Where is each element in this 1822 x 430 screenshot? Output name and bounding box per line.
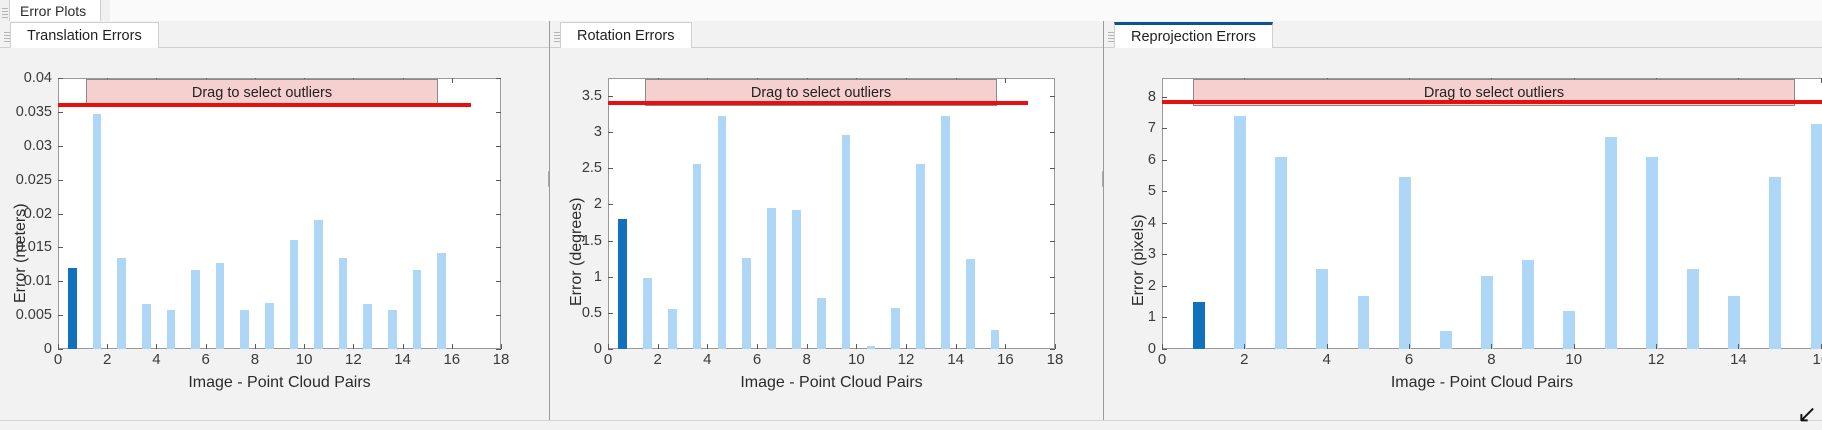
document-tabstrip: Error Plots bbox=[0, 0, 1822, 21]
bar-12[interactable] bbox=[891, 308, 900, 349]
xtick-label: 8 bbox=[802, 351, 810, 368]
bar-11[interactable] bbox=[1605, 137, 1617, 349]
ytick-label: 0.035 bbox=[6, 104, 52, 120]
bar-1[interactable] bbox=[618, 219, 627, 349]
outlier-selection-band[interactable]: Drag to select outliers bbox=[86, 79, 438, 106]
bar-15[interactable] bbox=[966, 259, 975, 349]
xtick-label: 16 bbox=[443, 351, 460, 368]
bar-2[interactable] bbox=[93, 114, 102, 349]
bar-14[interactable] bbox=[941, 116, 950, 349]
xtick-label: 14 bbox=[947, 351, 964, 368]
bar-15[interactable] bbox=[413, 270, 422, 349]
bar-5[interactable] bbox=[718, 116, 727, 349]
y-axis-label: Error (meters) bbox=[12, 203, 30, 303]
ytick-label: 0.025 bbox=[6, 172, 52, 188]
ytick-label: 5 bbox=[1128, 183, 1156, 199]
xtick-label: 4 bbox=[152, 351, 160, 368]
ytick-label: 0.04 bbox=[6, 70, 52, 86]
xtick-label: 18 bbox=[1047, 351, 1064, 368]
bar-2[interactable] bbox=[1234, 116, 1246, 349]
bar-3[interactable] bbox=[668, 309, 677, 349]
panel-rotation-errors: Rotation Errors bbox=[550, 21, 1103, 430]
tab-rotation-errors[interactable]: Rotation Errors bbox=[560, 22, 692, 48]
bar-13[interactable] bbox=[363, 304, 372, 349]
xtick-label: 2 bbox=[653, 351, 661, 368]
bar-4[interactable] bbox=[693, 164, 702, 349]
xtick-label: 4 bbox=[703, 351, 711, 368]
xtick-label: 0 bbox=[1158, 351, 1166, 368]
document-tab-error-plots[interactable]: Error Plots bbox=[9, 0, 101, 21]
xtick-label: 10 bbox=[848, 351, 865, 368]
tab-reprojection-errors[interactable]: Reprojection Errors bbox=[1114, 22, 1273, 48]
axes-reprojection-errors: 0 1 2 3 4 5 6 7 8 0 bbox=[1162, 78, 1822, 349]
bar-12[interactable] bbox=[339, 258, 348, 349]
xtick-label: 0 bbox=[604, 351, 612, 368]
bar-8[interactable] bbox=[1481, 276, 1493, 349]
ytick-label: 6 bbox=[1128, 152, 1156, 168]
xtick-label: 2 bbox=[103, 351, 111, 368]
bar-9[interactable] bbox=[1522, 260, 1534, 349]
outlier-band-label: Drag to select outliers bbox=[192, 85, 332, 101]
bar-9[interactable] bbox=[265, 303, 274, 349]
bar-12[interactable] bbox=[1646, 157, 1658, 349]
x-axis-label: Image - Point Cloud Pairs bbox=[58, 374, 501, 392]
bar-6[interactable] bbox=[191, 270, 200, 349]
bar-series-translation bbox=[58, 78, 501, 349]
ytick-label: 2.5 bbox=[562, 160, 602, 176]
bar-5[interactable] bbox=[167, 310, 176, 349]
bar-7[interactable] bbox=[767, 208, 776, 349]
tab-label: Rotation Errors bbox=[577, 28, 675, 44]
axes-translation-errors: 0 0.005 0.01 0.015 0.02 0.025 0.03 0.035… bbox=[58, 78, 501, 349]
y-axis-label: Error (degrees) bbox=[568, 198, 586, 306]
xtick-label: 12 bbox=[1648, 351, 1665, 368]
bar-8[interactable] bbox=[240, 310, 249, 349]
bar-13[interactable] bbox=[1687, 269, 1699, 349]
bar-3[interactable] bbox=[1275, 157, 1287, 349]
panel-reprojection-errors: Reprojection Errors bbox=[1104, 21, 1822, 430]
bar-9[interactable] bbox=[817, 298, 826, 349]
tab-label: Reprojection Errors bbox=[1131, 29, 1256, 45]
xtick-label: 10 bbox=[1565, 351, 1582, 368]
ytick-label: 0 bbox=[1128, 341, 1156, 357]
bar-4[interactable] bbox=[142, 304, 151, 349]
status-strip bbox=[0, 420, 1822, 430]
xtick-label: 12 bbox=[345, 351, 362, 368]
figure-tabbar-1: Translation Errors bbox=[0, 21, 549, 48]
xtick-label: 10 bbox=[296, 351, 313, 368]
bar-1[interactable] bbox=[68, 268, 77, 349]
xtick-label: 6 bbox=[201, 351, 209, 368]
bar-4[interactable] bbox=[1316, 269, 1328, 349]
bar-series-rotation bbox=[608, 78, 1055, 349]
outlier-band-label: Drag to select outliers bbox=[1424, 85, 1564, 101]
ytick-label: 3.5 bbox=[562, 88, 602, 104]
outlier-threshold-line[interactable] bbox=[608, 101, 1028, 105]
ytick-label: 0 bbox=[6, 341, 52, 357]
bar-16[interactable] bbox=[437, 253, 446, 349]
bar-16[interactable] bbox=[991, 330, 1000, 349]
ytick-label: 0.03 bbox=[6, 138, 52, 154]
xtick-label: 8 bbox=[251, 351, 259, 368]
bar-6[interactable] bbox=[742, 258, 751, 349]
xtick-label: 6 bbox=[1405, 351, 1413, 368]
ytick-label: 7 bbox=[1128, 120, 1156, 136]
bar-10[interactable] bbox=[842, 135, 851, 349]
bar-11[interactable] bbox=[867, 346, 876, 349]
xtick-label: 6 bbox=[753, 351, 761, 368]
xtick-label: 2 bbox=[1240, 351, 1248, 368]
figure-tabbar-2: Rotation Errors bbox=[550, 21, 1103, 48]
xtick-label: 16 bbox=[997, 351, 1014, 368]
ytick-label: 0 bbox=[562, 341, 602, 357]
outlier-band-label: Drag to select outliers bbox=[751, 85, 891, 101]
resize-arrow-icon[interactable]: ↙ bbox=[1794, 402, 1820, 428]
y-axis-label: Error (pixels) bbox=[1130, 214, 1148, 306]
panel-translation-errors: Translation Errors bbox=[0, 21, 549, 430]
bar-1[interactable] bbox=[1193, 302, 1205, 349]
figure-tabbar-3: Reprojection Errors bbox=[1104, 21, 1822, 48]
bar-14[interactable] bbox=[388, 310, 397, 349]
ytick-label: 0.005 bbox=[6, 307, 52, 323]
bar-10[interactable] bbox=[290, 240, 299, 349]
bar-7[interactable] bbox=[1440, 331, 1452, 349]
xtick-label: 18 bbox=[493, 351, 510, 368]
ytick-label: 1 bbox=[1128, 309, 1156, 325]
bar-13[interactable] bbox=[916, 164, 925, 349]
xtick-label: 4 bbox=[1323, 351, 1331, 368]
bar-3[interactable] bbox=[117, 258, 126, 349]
ytick-label: 3 bbox=[562, 124, 602, 140]
xtick-label: 14 bbox=[1730, 351, 1747, 368]
bar-2[interactable] bbox=[643, 278, 652, 349]
bar-15[interactable] bbox=[1769, 177, 1781, 349]
ytick-label: 0.5 bbox=[562, 305, 602, 321]
xtick-label: 12 bbox=[898, 351, 915, 368]
axes-rotation-errors: 0 0.5 1 1.5 2 2.5 3 3.5 bbox=[608, 78, 1055, 349]
x-axis-label: Image - Point Cloud Pairs bbox=[1162, 374, 1802, 392]
tab-label: Translation Errors bbox=[27, 28, 142, 44]
document-tab-label: Error Plots bbox=[20, 3, 86, 19]
x-axis-label: Image - Point Cloud Pairs bbox=[608, 374, 1055, 392]
outlier-threshold-line[interactable] bbox=[58, 103, 471, 107]
xtick-label: 0 bbox=[54, 351, 62, 368]
error-plot-panels: Translation Errors bbox=[0, 21, 1822, 430]
bar-16[interactable] bbox=[1811, 124, 1822, 349]
drag-grip-icon[interactable] bbox=[2, 7, 8, 20]
document-tabstrip-filler bbox=[110, 0, 1822, 22]
bar-7[interactable] bbox=[216, 263, 225, 349]
tab-translation-errors[interactable]: Translation Errors bbox=[10, 22, 159, 48]
bar-14[interactable] bbox=[1728, 296, 1740, 349]
bar-5[interactable] bbox=[1358, 296, 1370, 349]
ytick-label: 8 bbox=[1128, 89, 1156, 105]
bar-series-reprojection bbox=[1162, 78, 1822, 349]
xtick-label: 8 bbox=[1487, 351, 1495, 368]
bar-8[interactable] bbox=[792, 210, 801, 349]
bar-6[interactable] bbox=[1399, 177, 1411, 349]
xtick-label: 16 bbox=[1812, 351, 1822, 368]
outlier-threshold-line[interactable] bbox=[1162, 100, 1822, 104]
xtick-label: 14 bbox=[394, 351, 411, 368]
bar-11[interactable] bbox=[314, 220, 323, 349]
